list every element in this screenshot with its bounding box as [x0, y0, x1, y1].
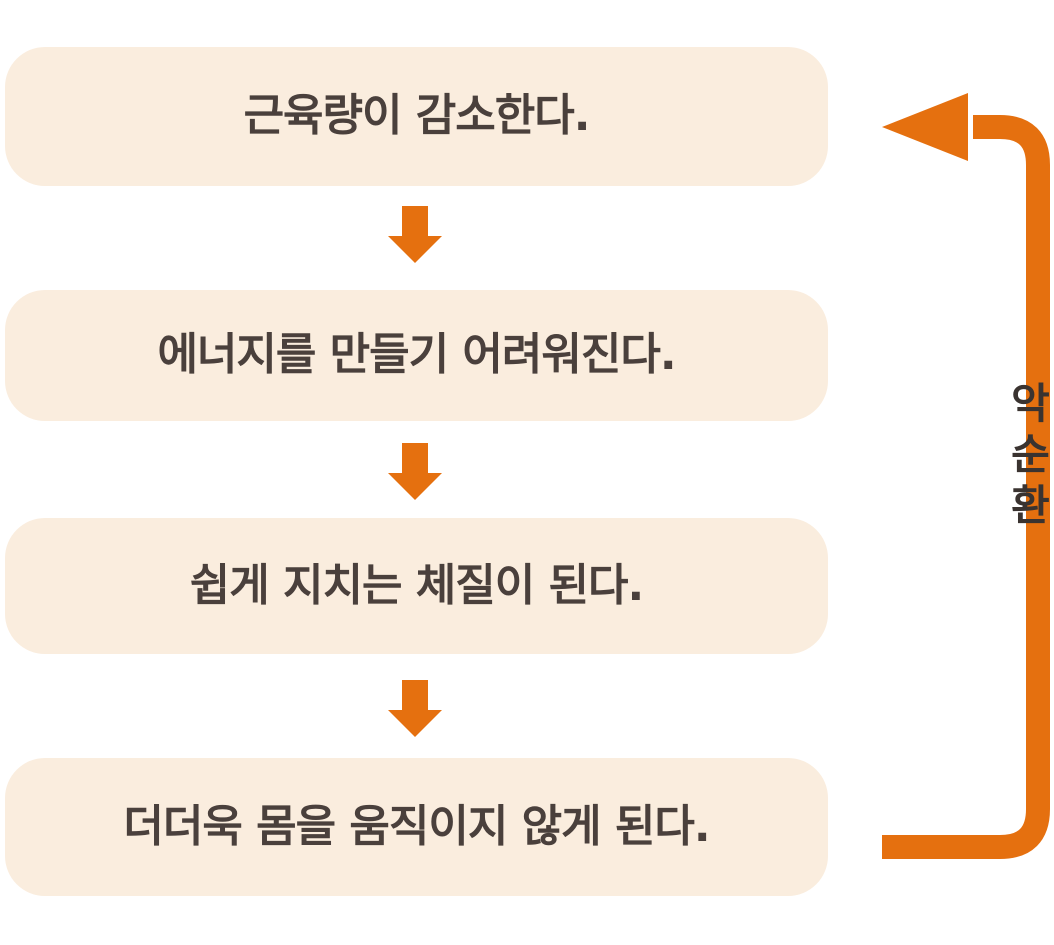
flow-step-label-4: 더더욱 몸을 움직이지 않게 된다. [123, 801, 709, 854]
flow-step-label-2: 에너지를 만들기 어려워진다. [157, 329, 675, 382]
flow-step-box-1: 근육량이 감소한다. [5, 47, 828, 186]
flowchart-diagram: 근육량이 감소한다. 에너지를 만들기 어려워진다. 쉽게 지치는 체질이 된다… [0, 0, 1054, 945]
vicious-cycle-label: 악 순 환 [1006, 378, 1054, 532]
flow-step-box-2: 에너지를 만들기 어려워진다. [5, 290, 828, 421]
flow-step-box-3: 쉽게 지치는 체질이 된다. [5, 518, 828, 654]
flow-step-box-4: 더더욱 몸을 움직이지 않게 된다. [5, 758, 828, 896]
down-arrow-icon [388, 680, 442, 737]
vicious-cycle-char-2: 순 [1006, 429, 1054, 480]
down-arrow-icon [388, 206, 442, 263]
flow-step-label-3: 쉽게 지치는 체질이 된다. [190, 560, 643, 613]
down-arrow-icon [388, 443, 442, 500]
flow-step-label-1: 근육량이 감소한다. [244, 90, 590, 143]
vicious-cycle-char-3: 환 [1006, 480, 1054, 531]
vicious-cycle-char-1: 악 [1006, 378, 1054, 429]
